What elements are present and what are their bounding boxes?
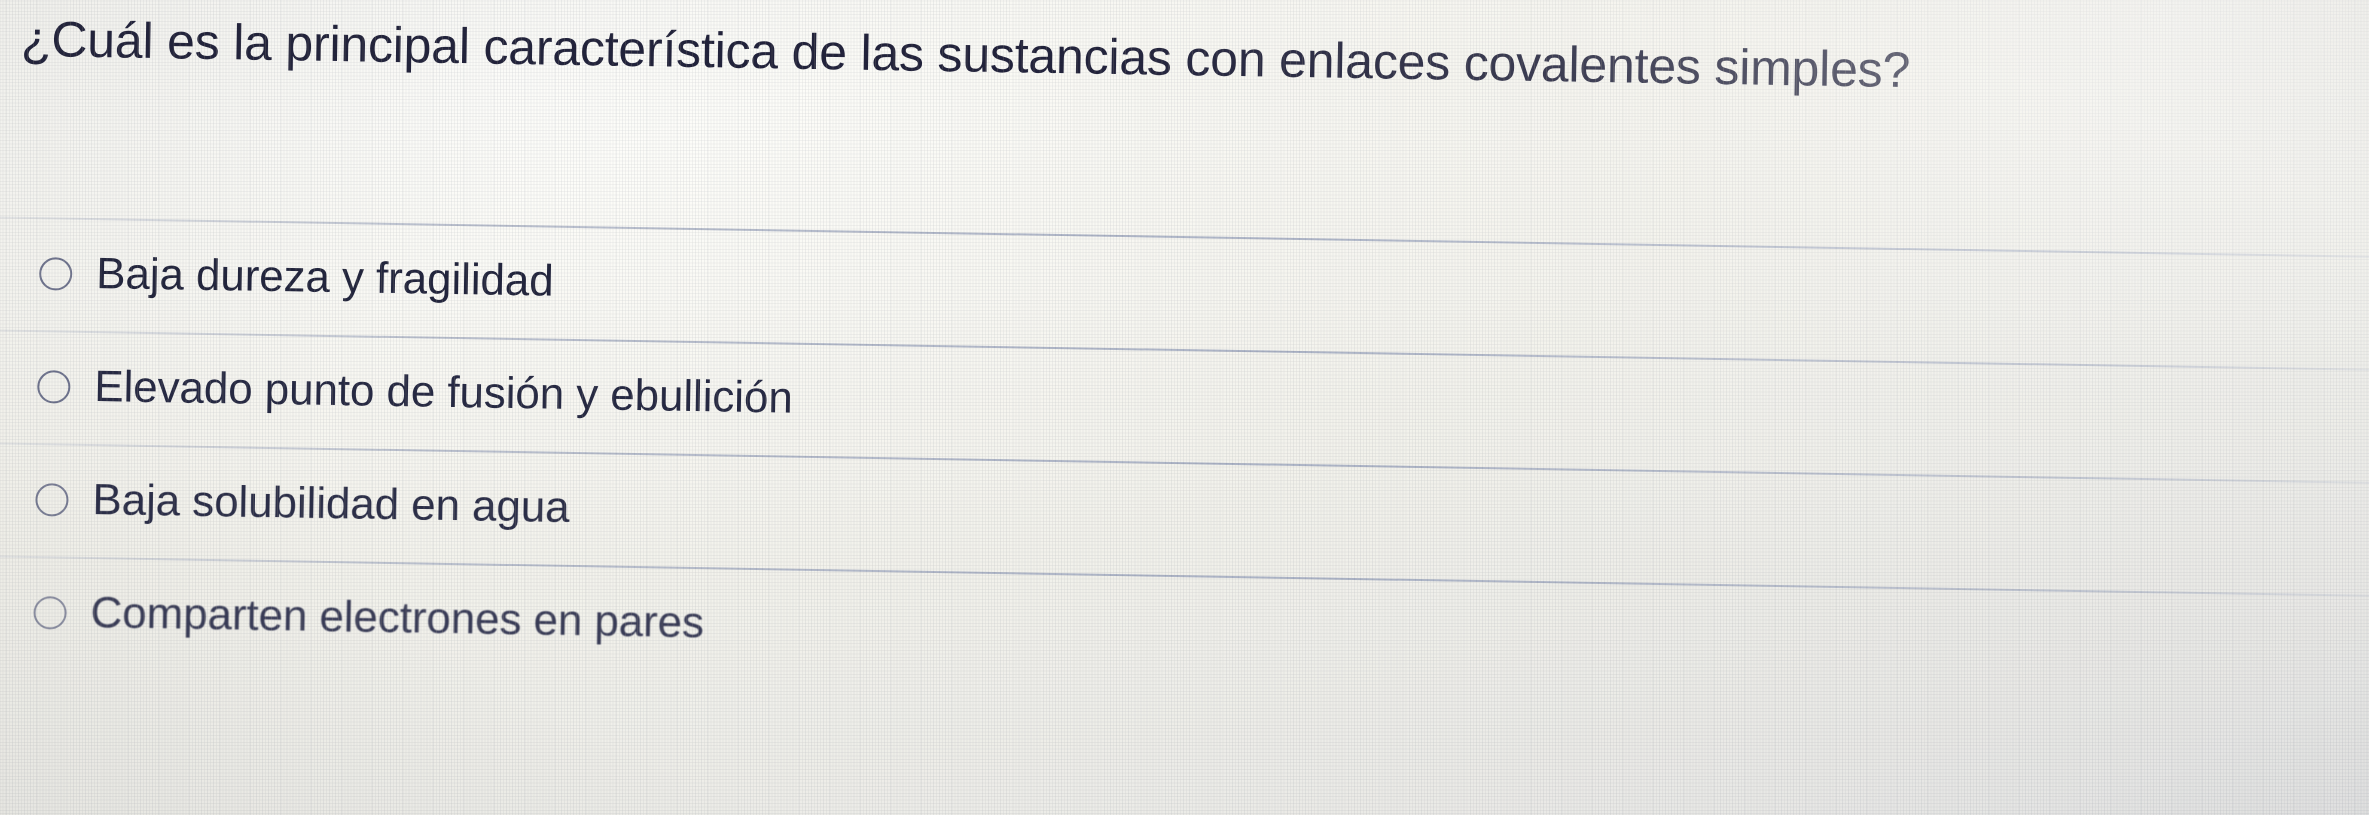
answer-option-label: Comparten electrones en pares bbox=[90, 589, 704, 648]
answer-option-label: Baja dureza y fragilidad bbox=[96, 250, 554, 306]
quiz-content: ¿Cuál es la principal característica de … bbox=[0, 0, 2369, 815]
answer-option-label: Baja solubilidad en agua bbox=[92, 476, 570, 532]
answer-option-label: Elevado punto de fusión y ebullición bbox=[94, 363, 793, 423]
radio-unchecked-icon[interactable] bbox=[37, 370, 71, 404]
quiz-screen: ¿Cuál es la principal característica de … bbox=[0, 0, 2369, 815]
radio-unchecked-icon[interactable] bbox=[39, 257, 73, 291]
radio-unchecked-icon[interactable] bbox=[35, 483, 69, 517]
option-divider bbox=[0, 216, 2369, 258]
radio-unchecked-icon[interactable] bbox=[33, 596, 67, 630]
question-text: ¿Cuál es la principal característica de … bbox=[21, 11, 2369, 106]
answer-options-list: Baja dureza y fragilidad Elevado punto d… bbox=[0, 216, 2369, 708]
